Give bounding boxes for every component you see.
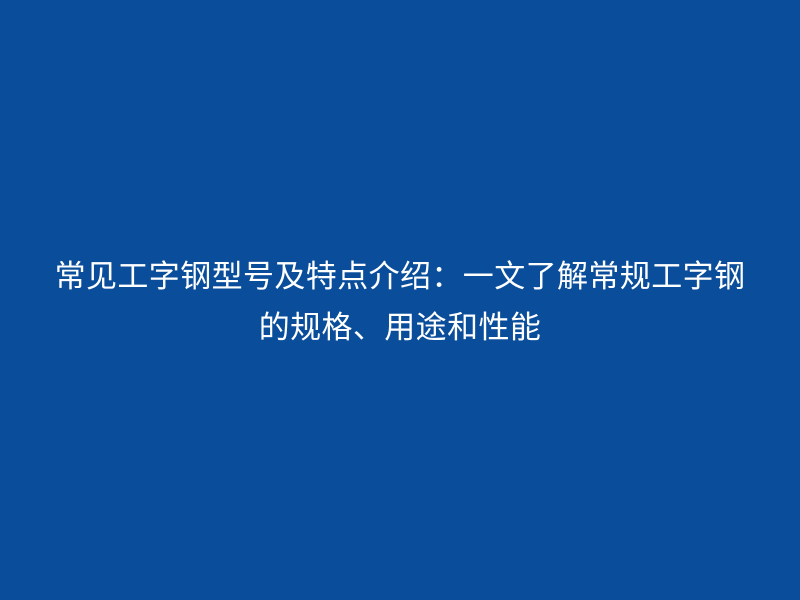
title-card-banner: 常见工字钢型号及特点介绍：一文了解常规工字钢 的规格、用途和性能: [0, 0, 800, 600]
page-title-line-2: 的规格、用途和性能: [30, 302, 770, 353]
page-title: 常见工字钢型号及特点介绍：一文了解常规工字钢 的规格、用途和性能: [30, 251, 770, 353]
page-title-line-1: 常见工字钢型号及特点介绍：一文了解常规工字钢: [30, 251, 770, 302]
